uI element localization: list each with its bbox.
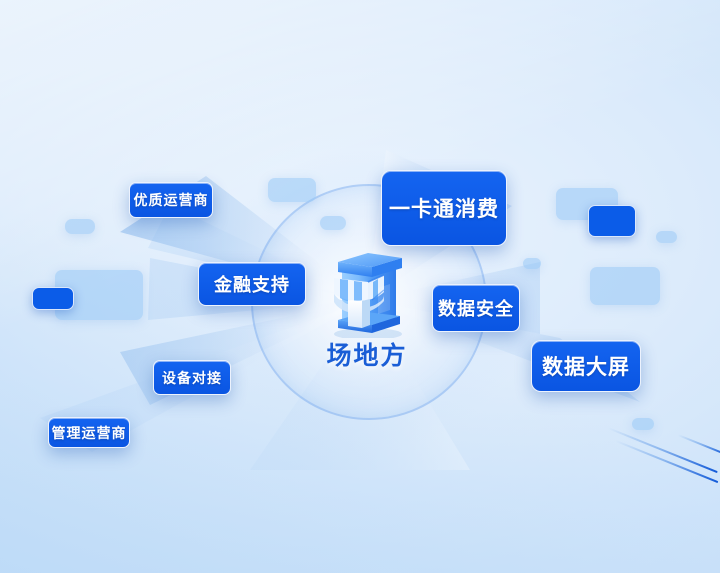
chip-yikatong-xiaofei[interactable]: 一卡通消费 xyxy=(381,170,507,246)
chip-guanli-yunyingshang[interactable]: 管理运营商 xyxy=(48,417,130,448)
deco-rect-11 xyxy=(632,418,654,430)
center-label: 场地方 xyxy=(302,336,432,372)
deco-rect-4 xyxy=(55,270,143,320)
deco-rect-10 xyxy=(590,267,660,305)
chip-shuju-daping[interactable]: 数据大屏 xyxy=(531,340,641,392)
chip-youzhi-yunyingshang[interactable]: 优质运营商 xyxy=(129,182,213,218)
center-node[interactable]: 场地方 xyxy=(302,238,432,383)
chip-shuju-anquan[interactable]: 数据安全 xyxy=(432,284,520,332)
chip-label: 金融支持 xyxy=(214,271,290,297)
chip-label: 设备对接 xyxy=(162,368,222,388)
streak-3 xyxy=(678,434,720,455)
chip-label: 管理运营商 xyxy=(52,423,127,443)
deco-rect-5 xyxy=(32,287,74,310)
deco-rect-1 xyxy=(268,178,316,202)
chip-label: 一卡通消费 xyxy=(389,193,499,223)
chip-label: 数据大屏 xyxy=(542,351,630,381)
infographic-canvas: 优质运营商金融支持设备对接管理运营商一卡通消费数据安全数据大屏 xyxy=(0,0,720,573)
deco-rect-9 xyxy=(523,258,541,269)
deco-rect-3 xyxy=(65,219,95,234)
streak-1 xyxy=(608,427,718,473)
deco-rect-2 xyxy=(320,216,346,230)
deco-rect-8 xyxy=(656,231,677,243)
deco-rect-6 xyxy=(556,188,618,220)
shop-storefront-icon xyxy=(312,238,422,338)
chip-jinrong-zhichi[interactable]: 金融支持 xyxy=(198,262,306,306)
chip-label: 优质运营商 xyxy=(134,190,209,210)
chip-label: 数据安全 xyxy=(438,295,514,321)
deco-rect-7 xyxy=(588,205,636,237)
streak-2 xyxy=(616,440,719,483)
chip-shebei-duijie[interactable]: 设备对接 xyxy=(153,360,231,395)
